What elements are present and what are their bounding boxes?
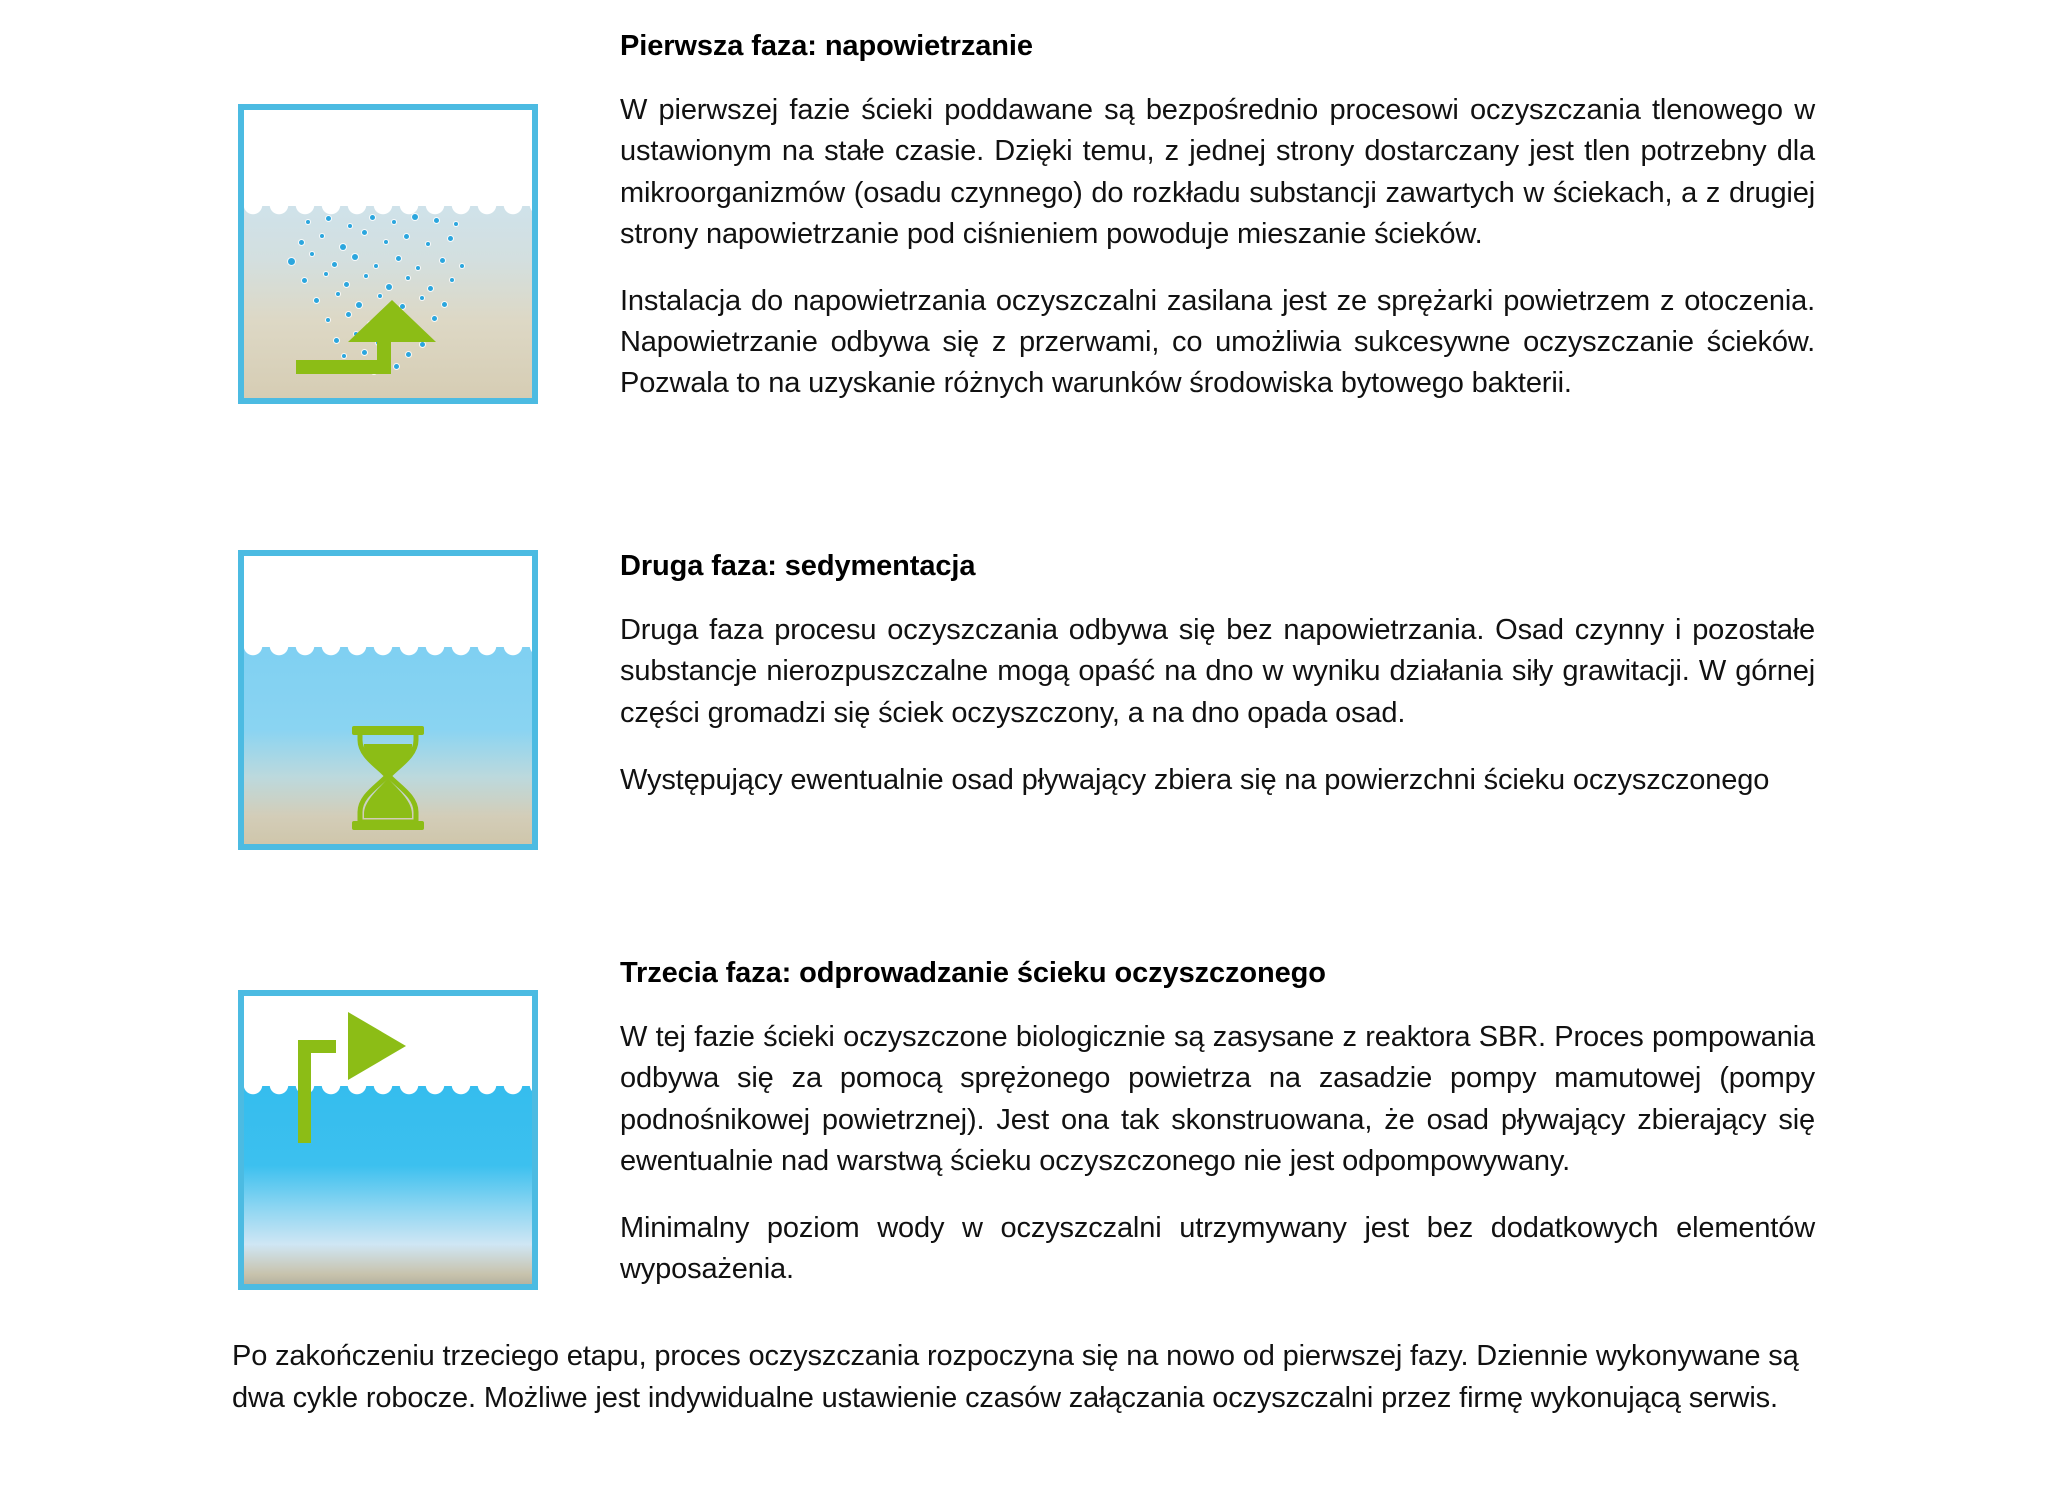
phase-2-heading: Druga faza: sedymentacja [620, 548, 1815, 584]
closing-paragraph: Po zakończeniu trzeciego etapu, proces o… [232, 1335, 1822, 1419]
phase-2-paragraph-1: Druga faza procesu oczyszczania odbywa s… [620, 610, 1815, 734]
tank-body [238, 104, 538, 404]
water-layer [244, 1086, 532, 1284]
discharge-pipe-horizontal [298, 1040, 336, 1053]
phase-3-paragraph-1: W tej fazie ścieki oczyszczone biologicz… [620, 1017, 1815, 1182]
outflow-arrow-icon [348, 1012, 412, 1080]
water-surface-wave [244, 1086, 532, 1099]
phase-1-text: Pierwsza faza: napowietrzanie W pierwsze… [620, 28, 1815, 404]
hourglass-icon [352, 726, 424, 830]
sedimentation-tank-icon [238, 550, 538, 850]
phase-2-text: Druga faza: sedymentacja Druga faza proc… [620, 548, 1815, 801]
aerator-triangle-icon [348, 300, 436, 342]
phase-3-text: Trzecia faza: odprowadzanie ścieku oczys… [620, 955, 1815, 1290]
discharge-tank-icon [238, 990, 538, 1290]
aerator-pipe-horizontal [296, 360, 391, 374]
phase-1-paragraph-2: Instalacja do napowietrzania oczyszczaln… [620, 281, 1815, 405]
phase-2-paragraph-2: Występujący ewentualnie osad pływający z… [620, 760, 1815, 801]
water-surface-wave [244, 647, 532, 660]
tank-body [238, 990, 538, 1290]
aeration-tank-icon [238, 104, 538, 404]
phase-1-heading: Pierwsza faza: napowietrzanie [620, 28, 1815, 64]
hourglass-glass-shape [352, 726, 424, 830]
closing-section: Po zakończeniu trzeciego etapu, proces o… [232, 1335, 1822, 1445]
tank-body [238, 550, 538, 850]
phase-1-paragraph-1: W pierwszej fazie ścieki poddawane są be… [620, 90, 1815, 255]
discharge-pipe-vertical [298, 1040, 311, 1143]
page-root: Pierwsza faza: napowietrzanie W pierwsze… [0, 0, 2048, 1487]
phase-3-paragraph-2: Minimalny poziom wody w oczyszczalni utr… [620, 1208, 1815, 1290]
phase-3-heading: Trzecia faza: odprowadzanie ścieku oczys… [620, 955, 1815, 991]
